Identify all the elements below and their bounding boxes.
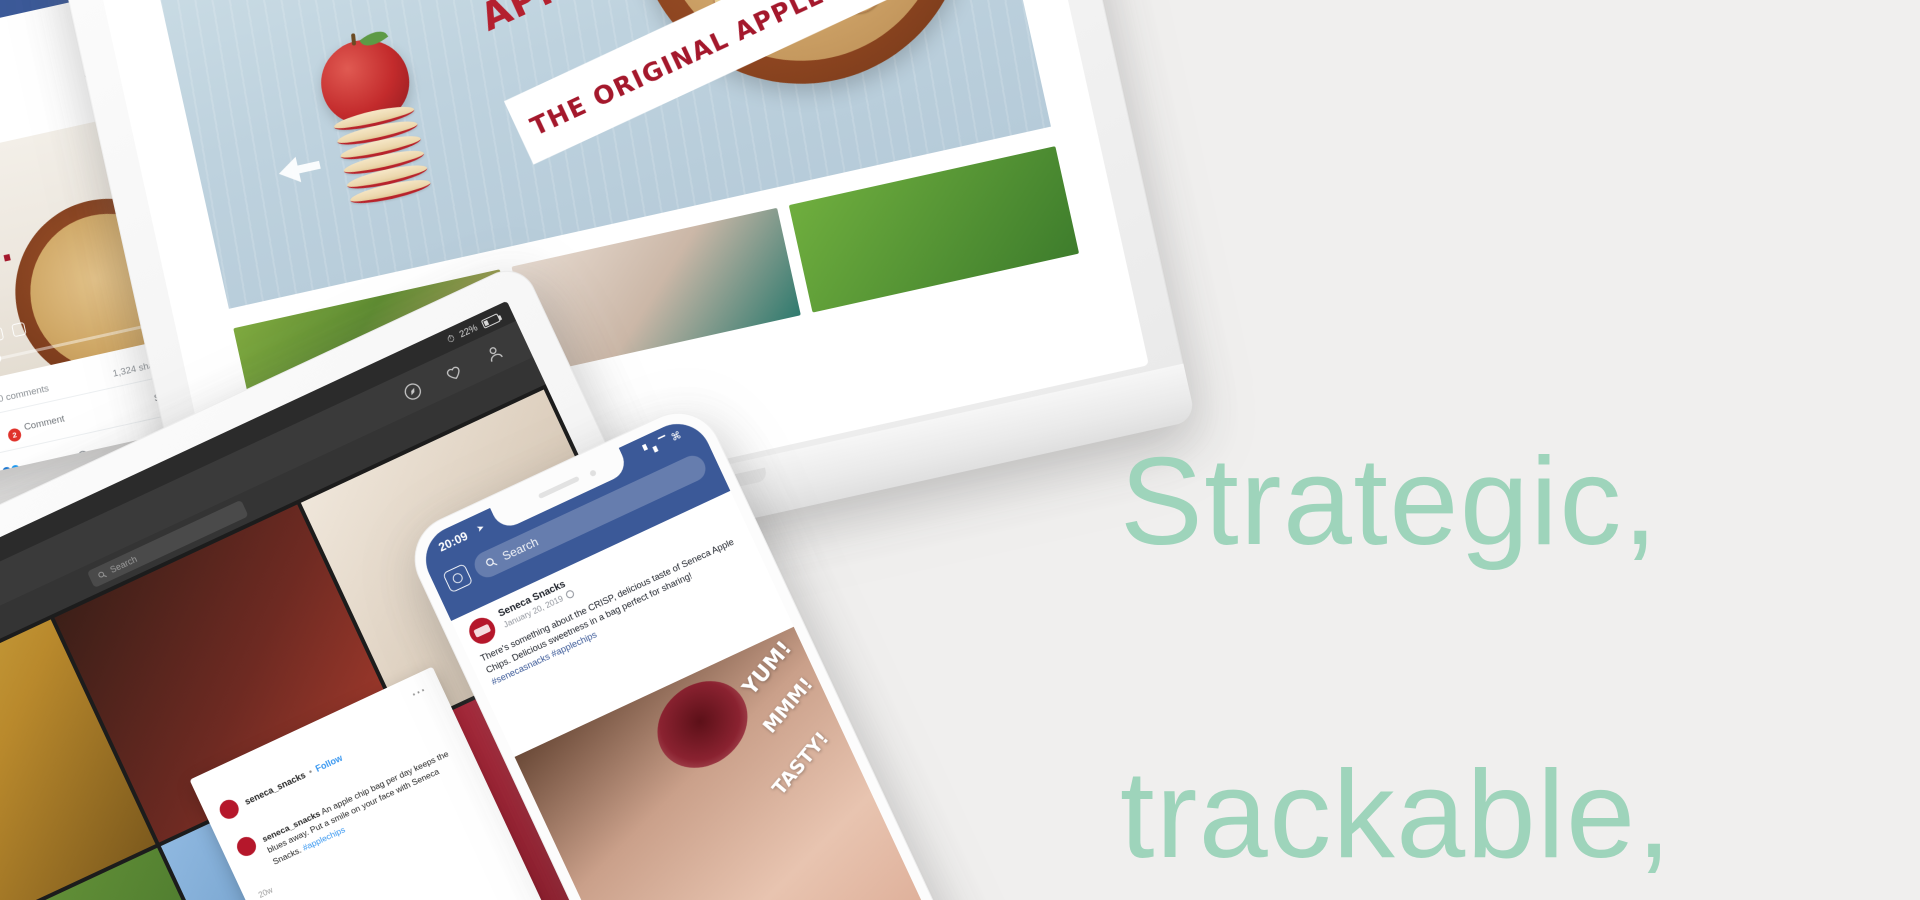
- volume-icon[interactable]: [11, 321, 27, 337]
- page-headline: Strategic, trackable, impact.: [1120, 268, 1800, 900]
- page-stage: ⋯ …e of the day! SHHHH… CHIPS 0:09: [0, 0, 1920, 900]
- post-username[interactable]: seneca_snacks: [243, 770, 307, 807]
- search-placeholder: Search: [109, 554, 139, 575]
- signal-and-wifi-icons: ▘▖▔ ⌘: [643, 429, 685, 456]
- search-placeholder: Search: [500, 535, 540, 564]
- alarm-icon: ⏱: [445, 332, 456, 345]
- username-separator: •: [307, 767, 314, 777]
- battery-percent: 22%: [457, 322, 479, 340]
- globe-icon: [564, 589, 575, 600]
- photo-word-tasty: TASTY!: [768, 728, 833, 800]
- comment-count[interactable]: 300 comments: [0, 383, 50, 407]
- search-icon: [483, 555, 499, 571]
- battery-icon: [481, 313, 501, 329]
- front-camera-icon: [589, 469, 597, 477]
- avatar[interactable]: [234, 834, 259, 859]
- speaker-grille: [538, 476, 580, 499]
- comment-button[interactable]: Comment: [23, 413, 66, 433]
- post-overlay-text: SHHHH…: [0, 229, 16, 307]
- heart-icon[interactable]: [441, 359, 466, 384]
- headline-line-1: Strategic,: [1120, 424, 1800, 580]
- more-options-icon[interactable]: ⋯: [408, 680, 431, 703]
- headline-line-2: trackable,: [1120, 737, 1800, 893]
- friends-icon[interactable]: 👥: [0, 460, 24, 484]
- fullscreen-icon[interactable]: [0, 326, 5, 342]
- person-icon[interactable]: [482, 340, 507, 365]
- search-icon: [96, 569, 108, 581]
- camera-icon[interactable]: [442, 563, 473, 593]
- compass-icon[interactable]: [400, 378, 425, 403]
- location-arrow-icon: ➤: [475, 522, 486, 535]
- post-photo[interactable]: YUM! MMM! TASTY! SENECA Made From Fresh …: [515, 627, 956, 900]
- avatar[interactable]: [217, 797, 242, 822]
- scrubber-knob[interactable]: [0, 353, 2, 365]
- follow-button[interactable]: Follow: [314, 753, 344, 774]
- status-time: 20:09: [436, 529, 470, 555]
